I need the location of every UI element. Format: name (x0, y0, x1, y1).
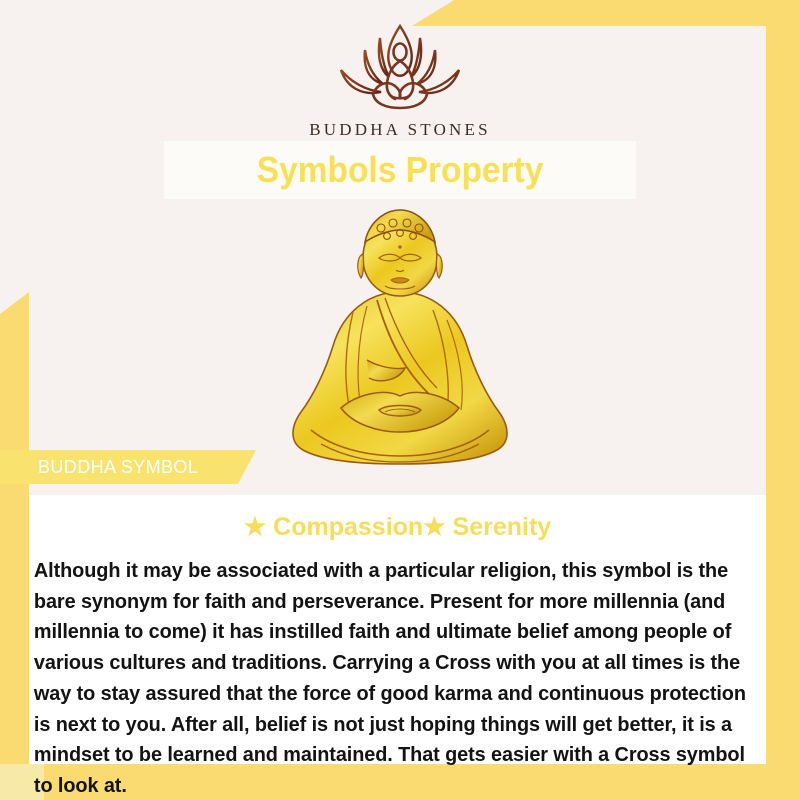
article-subheading: ★ Compassion★ Serenity (29, 495, 766, 542)
brand-name: BUDDHA STONES (0, 120, 800, 140)
hero-image-stage (0, 200, 800, 490)
buddha-symbol-tag: BUDDHA SYMBOL (0, 450, 256, 484)
article-panel: ★ Compassion★ Serenity Although it may b… (29, 495, 766, 764)
title-bar: Symbols Property (164, 141, 636, 199)
article-paragraph: Although it may be associated with a par… (29, 556, 755, 800)
page-title: Symbols Property (257, 149, 544, 191)
page-root: BUDDHA STONES Symbols Property (0, 0, 800, 800)
brand-logo: BUDDHA STONES (0, 20, 800, 140)
seated-buddha-statue (281, 200, 519, 490)
buddha-symbol-tag-label: BUDDHA SYMBOL (38, 457, 198, 478)
lotus-meditation-icon (325, 20, 475, 118)
